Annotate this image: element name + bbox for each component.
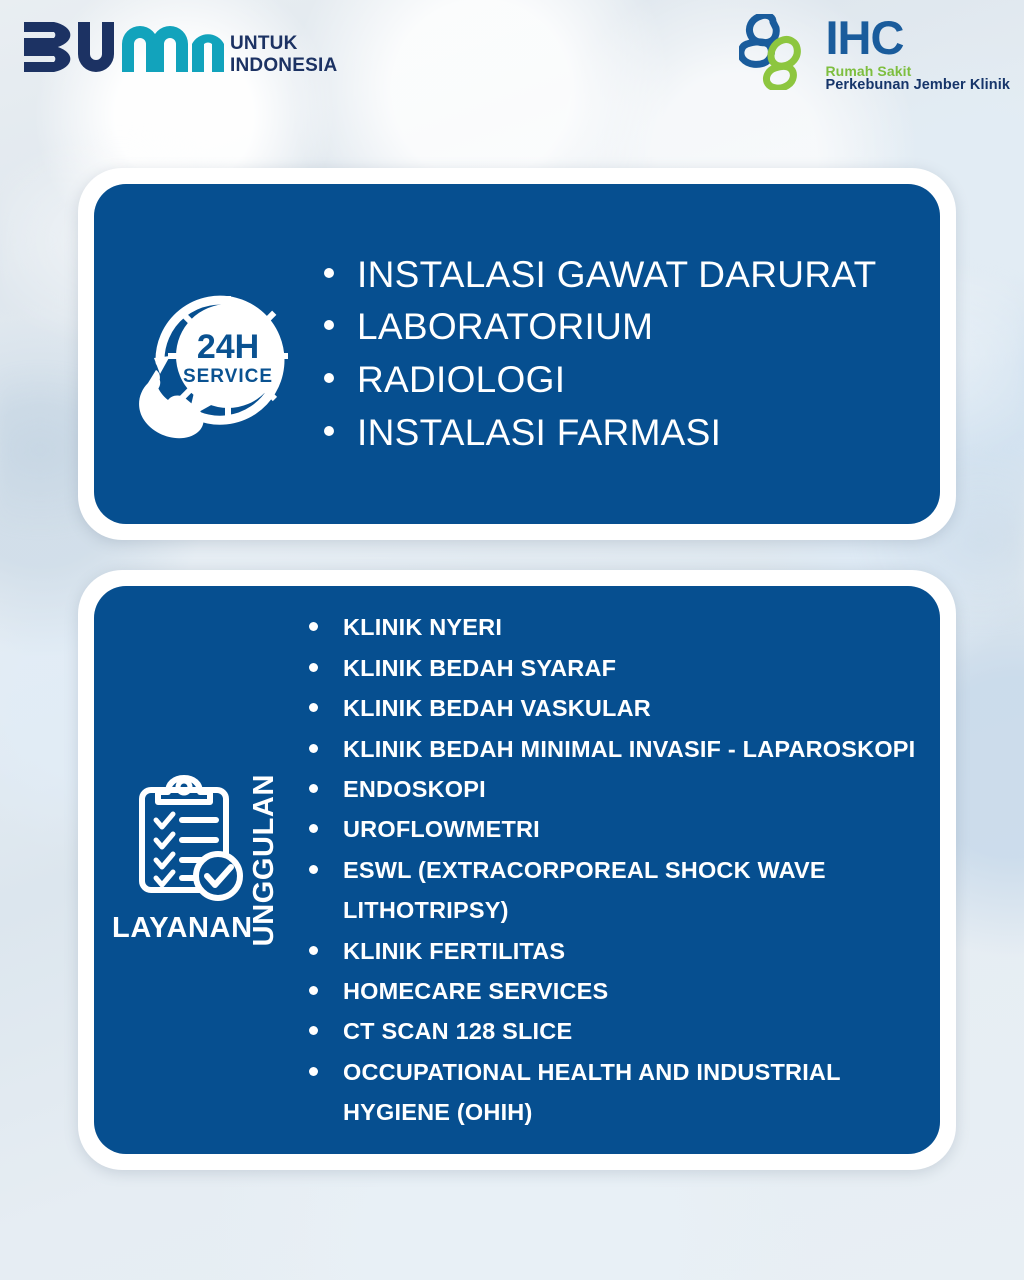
featured-item-label: HOMECARE SERVICES (343, 971, 608, 1011)
bumn-tagline-line1: UNTUK (230, 33, 337, 54)
featured-item-label: OCCUPATIONAL HEALTH AND INDUSTRIAL HYGIE… (343, 1052, 922, 1133)
bullet-icon (309, 663, 318, 672)
list-item: KLINIK NYERI (309, 607, 922, 647)
list-item: KLINIK BEDAH VASKULAR (309, 688, 922, 728)
svg-text:SERVICE: SERVICE (183, 366, 273, 387)
bumn-tagline-line2: INDONESIA (230, 55, 337, 76)
bullet-icon (309, 622, 318, 631)
ihc-wordmark: IHC (825, 14, 1010, 61)
featured-services-card: LAYANAN UNGGULAN KLINIK NYERI KLINIK BED… (78, 570, 956, 1170)
featured-item-label: ESWL (EXTRACORPOREAL SHOCK WAVE LITHOTRI… (343, 850, 922, 931)
bullet-icon (309, 744, 318, 753)
24h-service-phone-clock-icon: 24H SERVICE (130, 266, 306, 442)
bullet-icon (309, 986, 318, 995)
bullet-icon (309, 703, 318, 712)
bumn-wordmark-icon (20, 16, 226, 78)
emergency-item-label: RADIOLOGI (357, 354, 565, 407)
featured-item-label: KLINIK BEDAH MINIMAL INVASIF - LAPAROSKO… (343, 729, 915, 769)
list-item: UROFLOWMETRI (309, 809, 922, 849)
bullet-icon (324, 426, 334, 436)
ihc-subtitle-line2: Perkebunan Jember Klinik (825, 78, 1010, 93)
emergency-item-label: LABORATORIUM (357, 301, 653, 354)
bumn-tagline: UNTUK INDONESIA (230, 33, 337, 78)
list-item: INSTALASI FARMASI (324, 407, 876, 460)
emergency-services-list: INSTALASI GAWAT DARURAT LABORATORIUM RAD… (324, 249, 900, 459)
clipboard-checklist-icon (132, 774, 244, 902)
featured-item-label: UROFLOWMETRI (343, 809, 540, 849)
featured-label-column: LAYANAN UNGGULAN (94, 586, 309, 1154)
bullet-icon (309, 865, 318, 874)
featured-item-label: KLINIK BEDAH VASKULAR (343, 688, 651, 728)
bullet-icon (309, 784, 318, 793)
bullet-icon (324, 320, 334, 330)
featured-item-label: KLINIK FERTILITAS (343, 931, 565, 971)
featured-label-horizontal: LAYANAN (112, 912, 253, 945)
list-item: LABORATORIUM (324, 301, 876, 354)
emergency-item-label: INSTALASI FARMASI (357, 407, 721, 460)
ihc-subtitle-line1: Rumah Sakit (825, 64, 1010, 78)
emergency-card-body: 24H SERVICE INSTALASI GAWAT DARURAT (94, 184, 940, 524)
ihc-logo: IHC Rumah Sakit Perkebunan Jember Klinik (739, 14, 1010, 93)
list-item: HOMECARE SERVICES (309, 971, 922, 1011)
featured-item-label: CT SCAN 128 SLICE (343, 1011, 572, 1051)
featured-label-vertical: UNGGULAN (248, 774, 281, 946)
featured-item-label: KLINIK NYERI (343, 607, 502, 647)
poster-canvas: UNTUK INDONESIA IHC Rumah Sakit Perkebun… (0, 0, 1024, 1280)
bullet-icon (309, 1026, 318, 1035)
featured-item-label: KLINIK BEDAH SYARAF (343, 648, 616, 688)
list-item: CT SCAN 128 SLICE (309, 1011, 922, 1051)
list-item: KLINIK BEDAH MINIMAL INVASIF - LAPAROSKO… (309, 729, 922, 769)
featured-item-label: ENDOSKOPI (343, 769, 486, 809)
bullet-icon (324, 268, 334, 278)
list-item: INSTALASI GAWAT DARURAT (324, 249, 876, 302)
emergency-services-card: 24H SERVICE INSTALASI GAWAT DARURAT (78, 168, 956, 540)
bumn-logo: UNTUK INDONESIA (20, 16, 337, 78)
list-item: ESWL (EXTRACORPOREAL SHOCK WAVE LITHOTRI… (309, 850, 922, 931)
svg-text:24H: 24H (197, 328, 259, 366)
list-item: KLINIK FERTILITAS (309, 931, 922, 971)
list-item: RADIOLOGI (324, 354, 876, 407)
emergency-item-label: INSTALASI GAWAT DARURAT (357, 249, 876, 302)
list-item: OCCUPATIONAL HEALTH AND INDUSTRIAL HYGIE… (309, 1052, 922, 1133)
featured-card-body: LAYANAN UNGGULAN KLINIK NYERI KLINIK BED… (94, 586, 940, 1154)
bullet-icon (309, 824, 318, 833)
featured-services-list: KLINIK NYERI KLINIK BEDAH SYARAF KLINIK … (309, 607, 940, 1132)
list-item: ENDOSKOPI (309, 769, 922, 809)
bullet-icon (309, 946, 318, 955)
featured-card-inner: LAYANAN UNGGULAN KLINIK NYERI KLINIK BED… (94, 586, 940, 1154)
ihc-text-block: IHC Rumah Sakit Perkebunan Jember Klinik (825, 14, 1010, 93)
emergency-card-inner: 24H SERVICE INSTALASI GAWAT DARURAT (94, 184, 940, 524)
bullet-icon (324, 373, 334, 383)
ihc-leaf-icon (739, 14, 817, 90)
list-item: KLINIK BEDAH SYARAF (309, 648, 922, 688)
bullet-icon (309, 1067, 318, 1076)
clock-icon-container: 24H SERVICE (94, 266, 324, 442)
